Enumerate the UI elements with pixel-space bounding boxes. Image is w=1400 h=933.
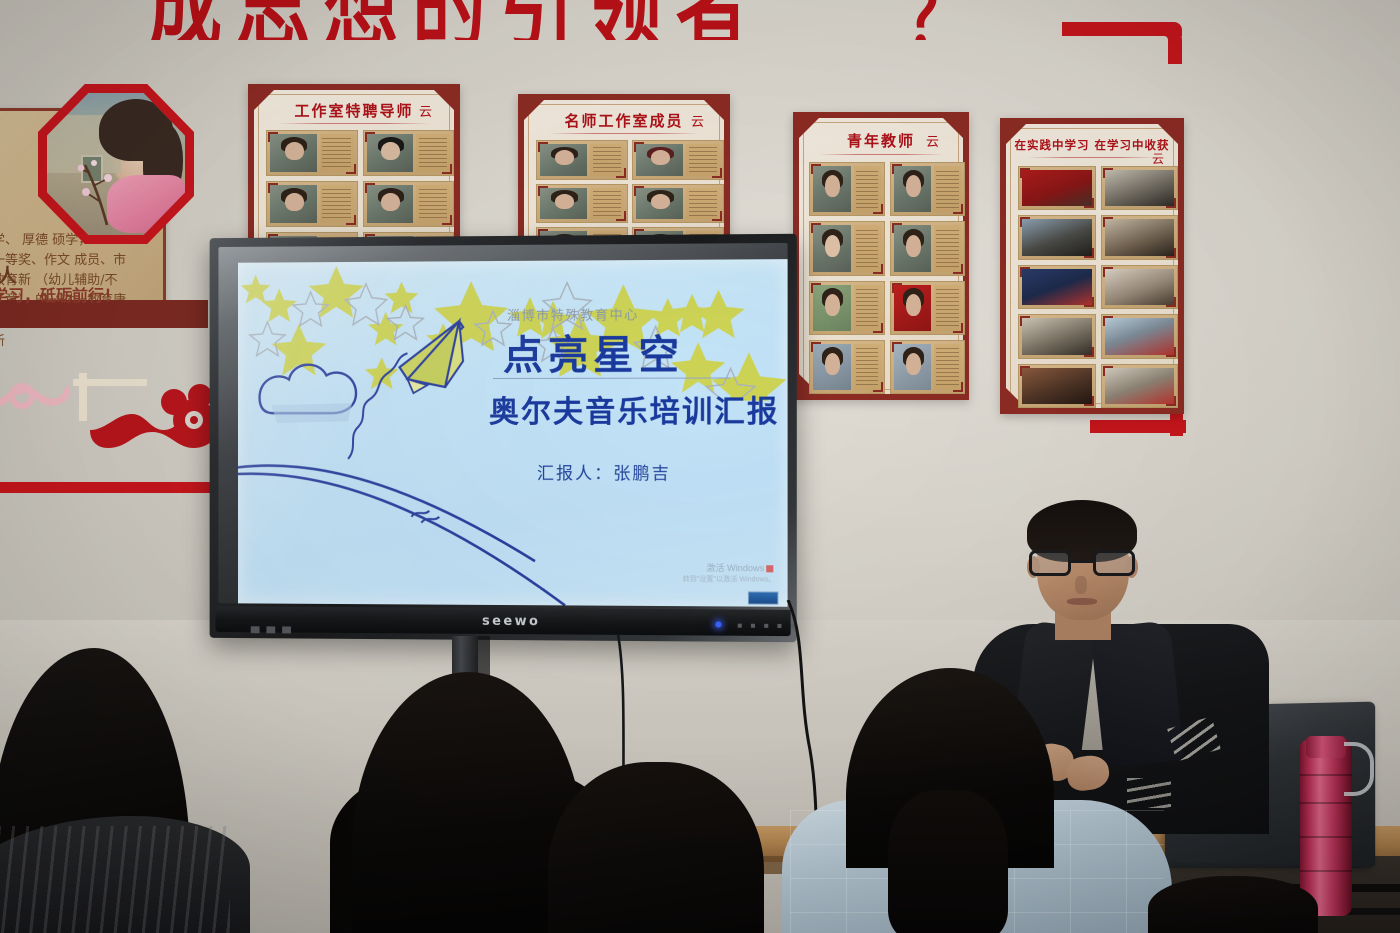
young-teacher-cell xyxy=(809,340,885,394)
cloud-seal-icon: 云 xyxy=(419,101,432,120)
pink-cloud-swirl xyxy=(0,378,70,420)
mentor-cell xyxy=(266,181,358,227)
presentation-slide: 淄博市特殊教育中心 点亮星空 奥尔夫音乐培训汇报 汇报人：张鹏吉 激活 Wind… xyxy=(238,259,788,607)
audience-member-1-jacket-pattern xyxy=(0,826,230,933)
display-side-ports[interactable] xyxy=(251,626,296,633)
activity-cell xyxy=(1101,364,1179,408)
slide-subtitle: 奥尔夫音乐培训汇报 xyxy=(489,386,779,431)
member-cell xyxy=(536,140,628,180)
honor-panel-practice: 在实践中学习 在学习中收获 云 xyxy=(1000,118,1184,414)
slide-title: 点亮星空 xyxy=(503,322,684,381)
thermos-strap xyxy=(1344,742,1374,796)
presenter-glasses xyxy=(1027,550,1139,578)
watermark-line-1: 激活 Windows xyxy=(706,563,764,573)
activity-cell xyxy=(1101,265,1179,309)
display-screen[interactable]: 淄博市特殊教育中心 点亮星空 奥尔夫音乐培训汇报 汇报人：张鹏吉 激活 Wind… xyxy=(238,259,788,607)
wall-banner-text: 成思想的引领者 xyxy=(148,0,764,40)
activity-cell xyxy=(1018,265,1096,309)
wall-banner: 成思想的引领者 ？ xyxy=(0,0,1400,40)
power-led-indicator xyxy=(715,621,721,627)
classroom-presentation-scene: 成思想的引领者 ？ 导人 博学、 厚德 硕学，1994 课一等奖、作文 成员、市… xyxy=(0,0,1400,933)
presenter-sleeve-stripes-lower xyxy=(1127,778,1171,808)
glasses-bridge xyxy=(1071,560,1093,563)
red-horizontal-stripe xyxy=(0,482,214,493)
activity-photo xyxy=(1022,219,1092,255)
watermark-line-2: 转到"设置"以激活 Windows。 xyxy=(683,574,776,584)
red-cloud-swirl-large xyxy=(88,368,220,464)
mentor-cell xyxy=(363,130,455,176)
activity-cell xyxy=(1018,364,1096,408)
young-teacher-cell xyxy=(890,162,966,216)
glasses-lens-left xyxy=(1029,550,1071,576)
audience-member-4-hair xyxy=(888,790,1008,933)
thermos-cap xyxy=(1306,736,1346,758)
young-teacher-cell xyxy=(890,281,966,335)
activity-photo xyxy=(1105,170,1175,206)
activity-cell xyxy=(1101,215,1179,259)
mentor-cell xyxy=(363,181,455,227)
presenter-nose xyxy=(1075,576,1087,594)
presenter-collar-right xyxy=(1090,620,1184,768)
portrait-blossom-branch xyxy=(77,145,117,227)
activity-cell xyxy=(1018,166,1096,210)
cloud-seal-icon: 云 xyxy=(926,131,939,150)
display-control-keys[interactable] xyxy=(738,624,795,628)
activity-photo xyxy=(1105,219,1175,255)
honor-panel-young-teachers: 青年教师 云 xyxy=(793,112,969,400)
member-cell xyxy=(632,184,724,224)
activity-photo xyxy=(1022,170,1092,206)
windows-logo-icon xyxy=(766,566,773,573)
activity-cell xyxy=(1018,314,1096,358)
activity-photo xyxy=(1022,318,1092,354)
activity-photo xyxy=(1022,368,1092,404)
member-cell xyxy=(536,184,628,224)
cloud-seal-icon: 云 xyxy=(691,111,704,130)
activity-photo xyxy=(1022,269,1092,305)
young-teacher-cell xyxy=(890,221,966,275)
cloud-seal-icon: 云 xyxy=(1152,150,1164,167)
display-bezel: 淄博市特殊教育中心 点亮星空 奥尔夫音乐培训汇报 汇报人：张鹏吉 激活 Wind… xyxy=(218,243,787,607)
wall-banner-glyph: ？ xyxy=(905,0,971,40)
activity-cell xyxy=(1101,314,1179,358)
young-teacher-cell xyxy=(809,281,885,335)
member-cell xyxy=(632,140,724,180)
presenter-mouth xyxy=(1067,598,1097,605)
activity-photo xyxy=(1105,269,1175,305)
interactive-flat-panel[interactable]: 淄博市特殊教育中心 点亮星空 奥尔夫音乐培训汇报 汇报人：张鹏吉 激活 Wind… xyxy=(210,234,797,642)
slide-presenter-label: 汇报人：张鹏吉 xyxy=(537,459,671,484)
windows-activation-watermark: 激活 Windows 转到"设置"以激活 Windows。 xyxy=(683,562,776,584)
activity-cell xyxy=(1018,215,1096,259)
young-teacher-cell xyxy=(809,221,885,275)
display-corner-sticker xyxy=(748,591,779,604)
founder-board-motto: 心学习，砥砺前行！ xyxy=(0,282,120,306)
red-bracket-corner xyxy=(1140,22,1182,64)
audience-member-5 xyxy=(1148,876,1318,933)
activity-cell xyxy=(1101,166,1179,210)
display-brand-label: seewo xyxy=(482,614,540,629)
slide-organization: 淄博市特殊教育中心 xyxy=(507,304,639,324)
young-teacher-cell xyxy=(890,340,966,394)
glasses-lens-right xyxy=(1093,550,1135,576)
activity-photo xyxy=(1105,368,1175,404)
young-teacher-cell xyxy=(809,162,885,216)
activity-photo xyxy=(1105,318,1175,354)
mentor-cell xyxy=(266,130,358,176)
founder-portrait-photo xyxy=(47,93,185,235)
